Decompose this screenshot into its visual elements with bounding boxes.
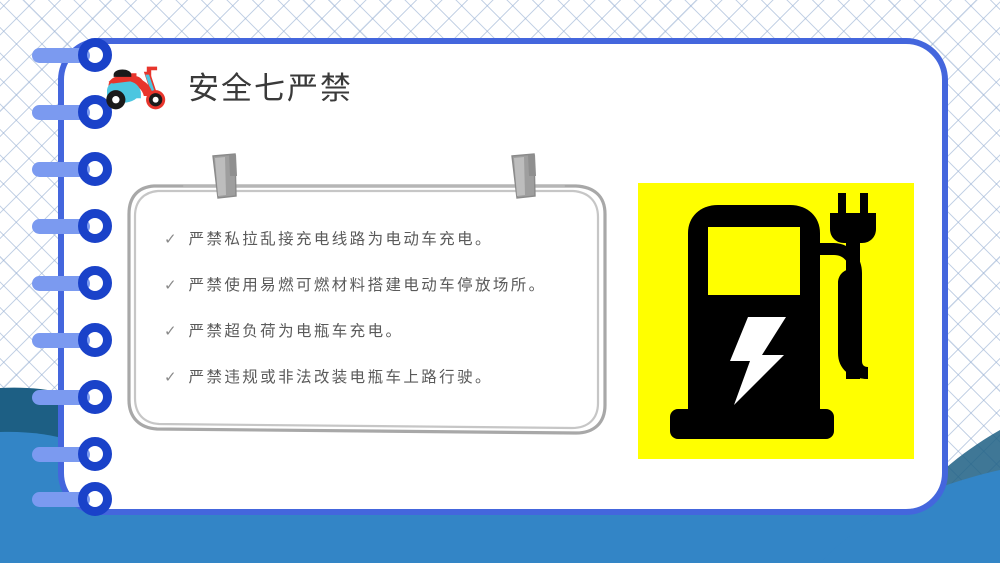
ev-charging-image <box>638 183 914 459</box>
list-item-label: 严禁私拉乱接充电线路为电动车充电。 <box>189 230 493 250</box>
check-icon: ✓ <box>164 230 177 250</box>
paper-clip-left <box>205 152 245 202</box>
list-item: ✓ 严禁私拉乱接充电线路为电动车充电。 <box>164 230 585 250</box>
ev-charging-station-icon <box>638 183 914 459</box>
list-item-label: 严禁超负荷为电瓶车充电。 <box>189 322 404 342</box>
rules-list: ✓ 严禁私拉乱接充电线路为电动车充电。 ✓ 严禁使用易燃可燃材料搭建电动车停放场… <box>164 230 585 388</box>
spiral-ring <box>78 380 112 414</box>
page-title: 安全七严禁 <box>188 63 353 108</box>
list-item: ✓ 严禁使用易燃可燃材料搭建电动车停放场所。 <box>164 276 585 296</box>
list-item: ✓ 严禁超负荷为电瓶车充电。 <box>164 322 585 342</box>
list-item-label: 严禁使用易燃可燃材料搭建电动车停放场所。 <box>189 276 547 296</box>
check-icon: ✓ <box>164 322 177 342</box>
spiral-ring <box>78 323 112 357</box>
note-box: ✓ 严禁私拉乱接充电线路为电动车充电。 ✓ 严禁使用易燃可燃材料搭建电动车停放场… <box>124 172 611 440</box>
list-item: ✓ 严禁违规或非法改装电瓶车上路行驶。 <box>164 368 585 388</box>
spiral-ring <box>78 209 112 243</box>
spiral-ring <box>78 482 112 516</box>
spiral-ring <box>78 437 112 471</box>
spiral-ring <box>78 152 112 186</box>
paper-clip-right <box>504 152 544 202</box>
spiral-ring <box>78 266 112 300</box>
list-item-label: 严禁违规或非法改装电瓶车上路行驶。 <box>189 368 493 388</box>
slide-header: 安全七严禁 <box>98 55 353 115</box>
check-icon: ✓ <box>164 368 177 388</box>
check-icon: ✓ <box>164 276 177 296</box>
slide-canvas: 安全七严禁 ✓ 严禁私拉乱接充电线路为电动车充电。 ✓ 严禁使用易燃可燃材料搭建… <box>0 0 1000 563</box>
scooter-icon <box>98 57 172 113</box>
